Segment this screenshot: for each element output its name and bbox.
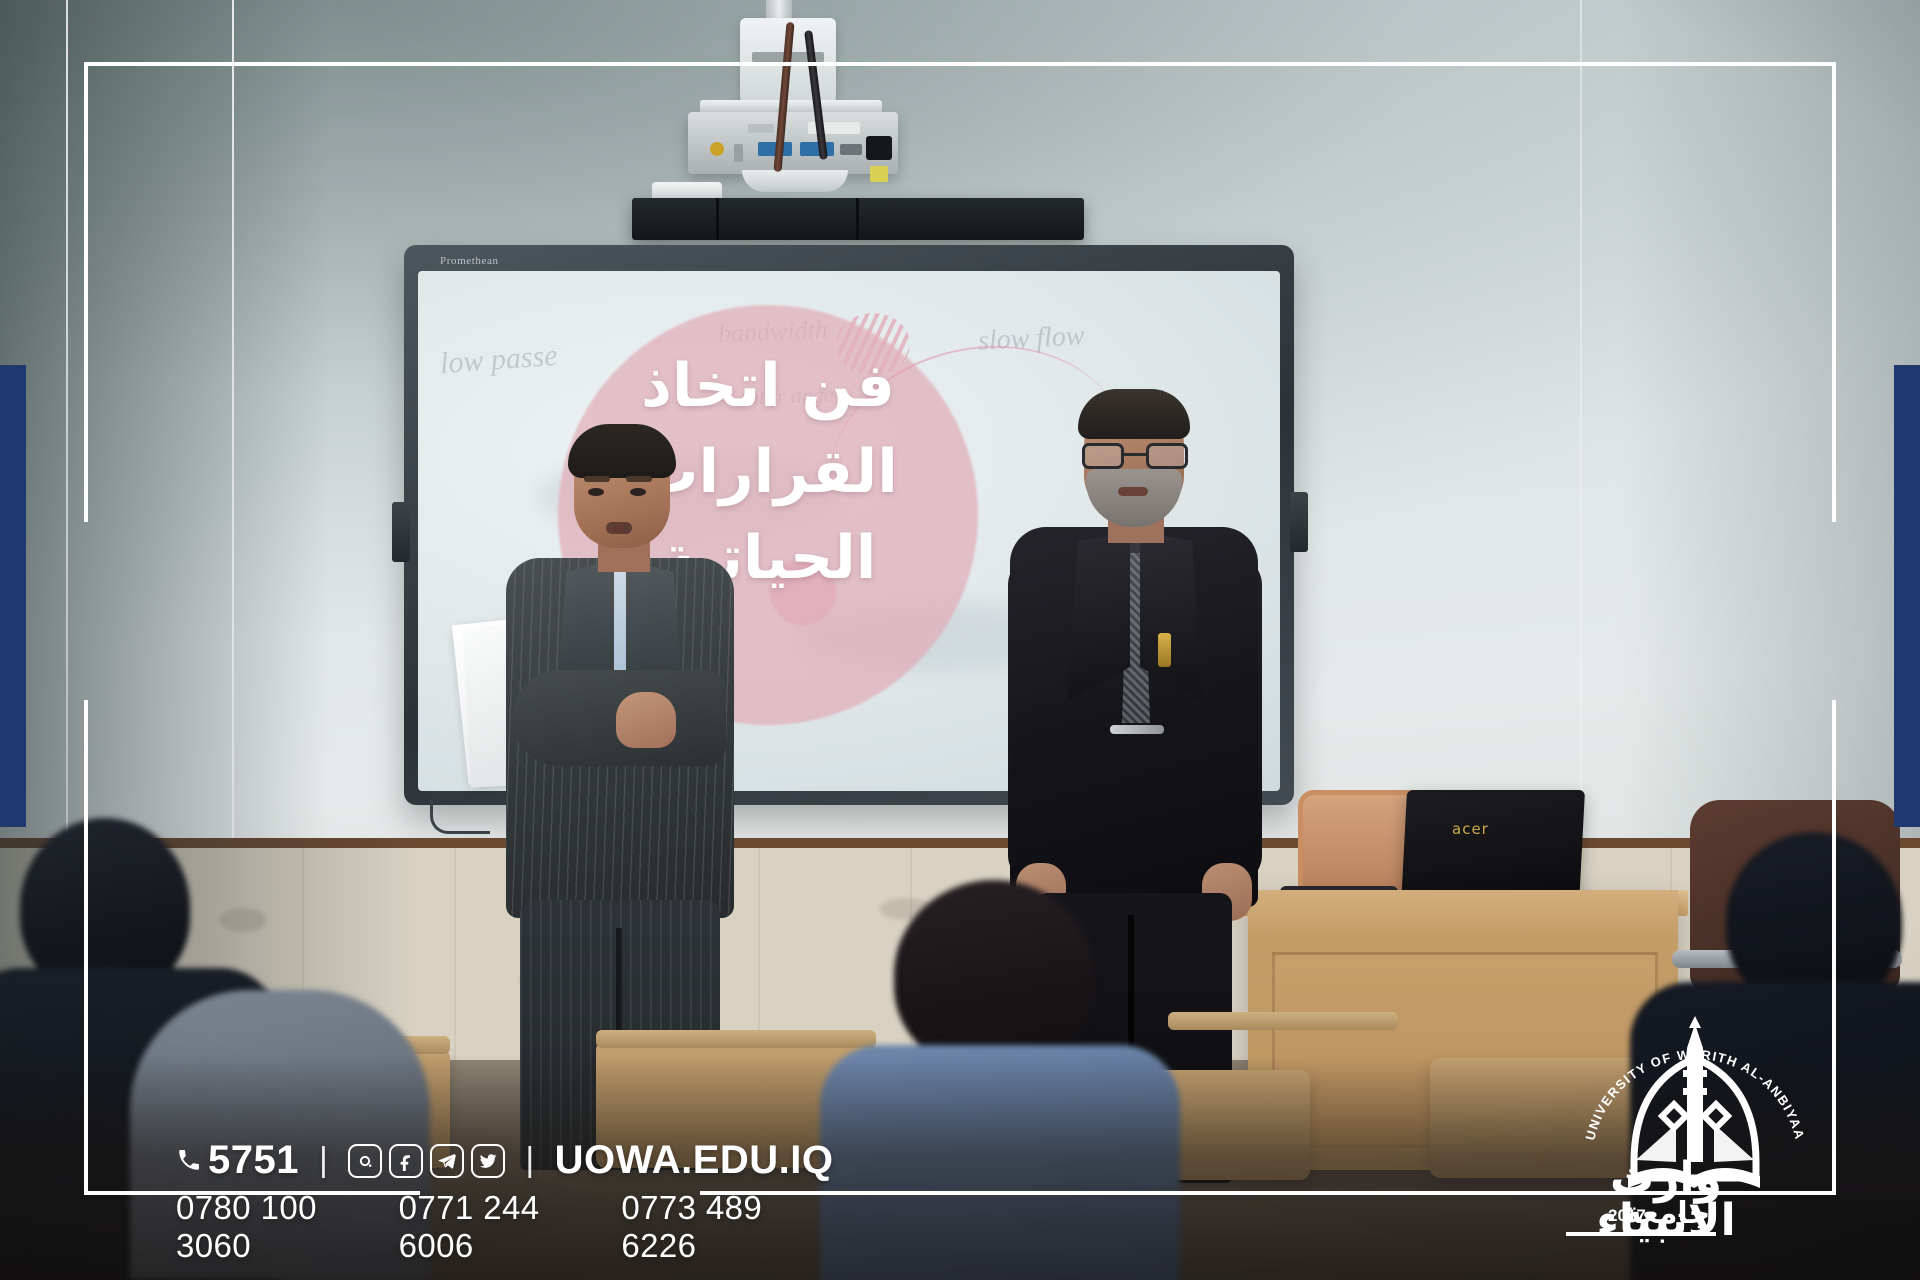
audience-head [894, 880, 1094, 1070]
projector-body [688, 112, 898, 174]
logo-founding-year: 2017 [1608, 1206, 1646, 1226]
university-logo: UNIVERSITY OF WARITH AL-ANBIYAA وارث الا… [1570, 1018, 1820, 1248]
brand-bar-right [1894, 365, 1920, 827]
frame-left-lower [84, 700, 88, 1195]
phone-number-3[interactable]: 0773 489 6226 [621, 1189, 816, 1265]
frame-right-upper [1832, 62, 1836, 522]
footer-primary-row: 5751 | [176, 1138, 816, 1183]
soundbar-seam [716, 198, 719, 240]
audience-seat-back [1168, 1012, 1398, 1030]
phone-number-1[interactable]: 0780 100 3060 [176, 1189, 371, 1265]
frame-top [84, 62, 1836, 66]
projector-lan-port [870, 166, 888, 182]
footer-separator-1: | [313, 1141, 334, 1180]
soundbar-seam [856, 198, 859, 240]
website-url[interactable]: UOWA.EDU.IQ [555, 1138, 834, 1183]
hotline[interactable]: 5751 [176, 1138, 299, 1183]
whiteboard-brand-label: Promethean [440, 255, 499, 267]
frame-left-upper [84, 62, 88, 522]
speaker-left-eye [588, 488, 604, 496]
facebook-icon[interactable] [389, 1144, 423, 1178]
brand-bar-left [0, 365, 26, 827]
whiteboard-mount-left [392, 502, 410, 562]
slide-title-line-1: فن اتخاذ [458, 353, 1078, 420]
projector-port [840, 144, 862, 155]
lapel-pin-icon [1158, 633, 1171, 667]
eyeglasses-icon [1082, 443, 1188, 469]
projector-power-socket [866, 136, 892, 160]
wall-shadow-left [0, 0, 330, 860]
speaker-left-hair [568, 424, 676, 478]
projector-port [710, 142, 724, 156]
projector-port [734, 144, 743, 162]
speaker-right-hair [1078, 389, 1190, 439]
laptop-brand-label: acer [1452, 820, 1489, 838]
wall-seam [232, 0, 234, 860]
wall-shadow-right [1620, 0, 1920, 860]
footer-separator-2: | [519, 1141, 540, 1180]
speaker-left-brow [584, 476, 610, 482]
social-icon-row [348, 1144, 505, 1178]
twitter-icon[interactable] [471, 1144, 505, 1178]
speaker-right-mouth [1118, 487, 1148, 496]
footer-contact-block: 5751 | [176, 1138, 816, 1265]
phone-icon [176, 1138, 202, 1183]
wall-seam [1580, 0, 1582, 860]
whiteboard-cable [430, 800, 490, 834]
speaker-right-beard [1086, 469, 1182, 527]
tie-clip [1110, 725, 1164, 734]
speaker-left-mouth [606, 522, 632, 534]
whiteboard-mount-right [1290, 492, 1308, 552]
eyeglass-lens [1082, 443, 1124, 469]
phone-number-2[interactable]: 0771 244 6006 [399, 1189, 594, 1265]
laptop-screen[interactable] [1401, 790, 1585, 906]
wall-seam [66, 0, 68, 860]
eyeglass-bridge [1124, 453, 1146, 456]
projector-lens [742, 170, 848, 192]
speaker-left [498, 430, 738, 1130]
logo-baseline-rule [1566, 1232, 1716, 1236]
instagram-icon[interactable] [348, 1144, 382, 1178]
speaker-left-brow [626, 476, 652, 482]
speaker-left-eye [630, 488, 646, 496]
projector-port [748, 124, 774, 133]
telegram-icon[interactable] [430, 1144, 464, 1178]
eyeglass-lens [1146, 443, 1188, 469]
speaker-left-hand [616, 692, 676, 748]
footer-phone-row: 0780 100 3060 0771 244 6006 0773 489 622… [176, 1189, 816, 1265]
frame-right-lower [1832, 700, 1836, 1195]
hotline-number: 5751 [208, 1138, 299, 1183]
